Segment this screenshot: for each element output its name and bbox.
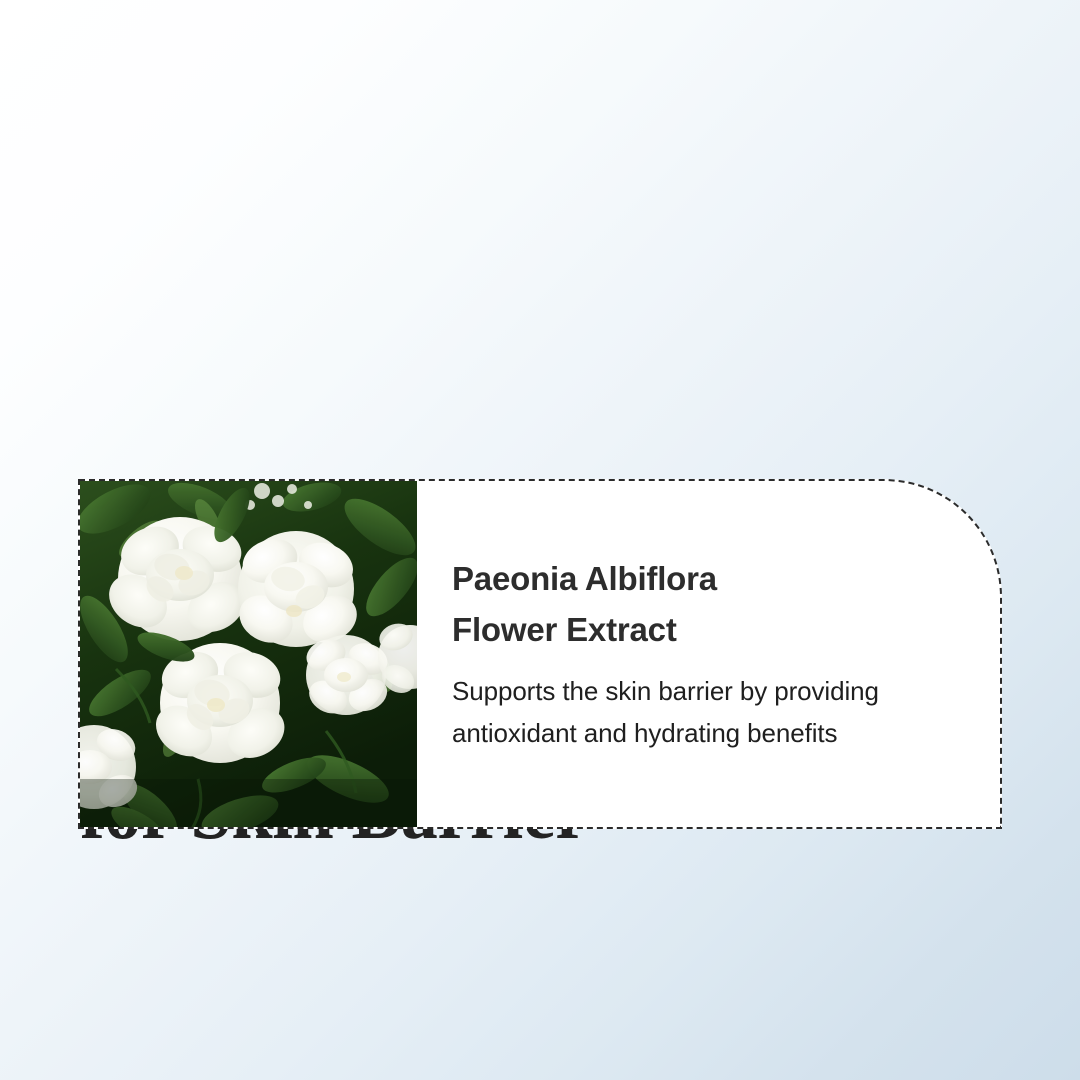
ingredient-description: Supports the skin barrier by providing a… xyxy=(452,670,1000,754)
peony-flower-photo xyxy=(80,481,417,827)
ingredient-text-block: Paeonia Albiflora Flower Extract Support… xyxy=(417,481,1000,827)
ingredient-card: Paeonia Albiflora Flower Extract Support… xyxy=(78,479,1002,829)
ingredient-name: Paeonia Albiflora Flower Extract xyxy=(452,553,1000,655)
product-infographic-slide: Patented Ingredient for Skin Barrier xyxy=(0,0,1080,1080)
